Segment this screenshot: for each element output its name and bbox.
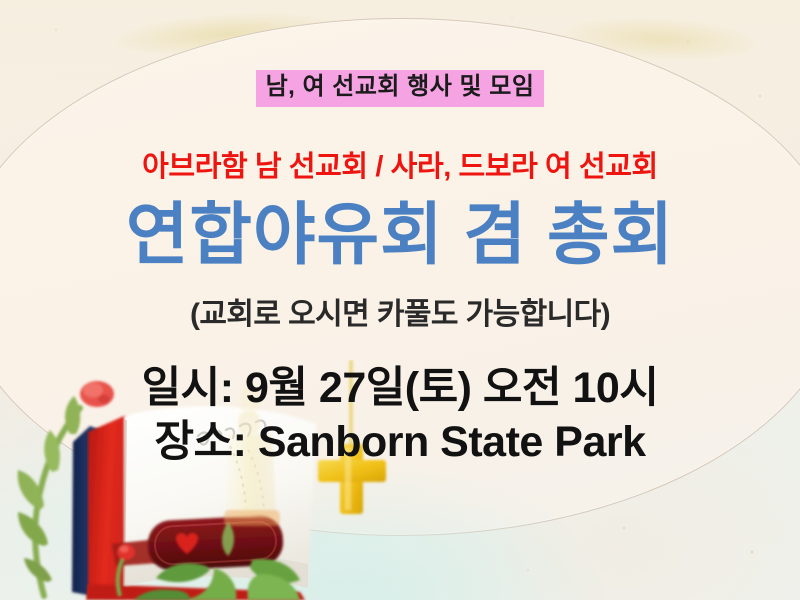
event-date-line: 일시: 9월 27일(토) 오전 10시: [0, 365, 800, 411]
event-location-line: 장소: Sanborn State Park: [0, 419, 800, 465]
eyebrow-row: 남, 여 선교회 행사 및 모임: [0, 70, 800, 107]
poster-canvas: 남, 여 선교회 행사 및 모임 아브라함 남 선교회 / 사라, 드보라 여 …: [0, 0, 800, 600]
eyebrow-highlight-label: 남, 여 선교회 행사 및 모임: [256, 70, 545, 107]
carpool-note: (교회로 오시면 카풀도 가능합니다): [0, 298, 800, 331]
event-headline: 연합야유회 겸 총회: [0, 196, 800, 274]
poster-text-content: 남, 여 선교회 행사 및 모임 아브라함 남 선교회 / 사라, 드보라 여 …: [0, 0, 800, 600]
organization-subtitle: 아브라함 남 선교회 / 사라, 드보라 여 선교회: [0, 152, 800, 184]
